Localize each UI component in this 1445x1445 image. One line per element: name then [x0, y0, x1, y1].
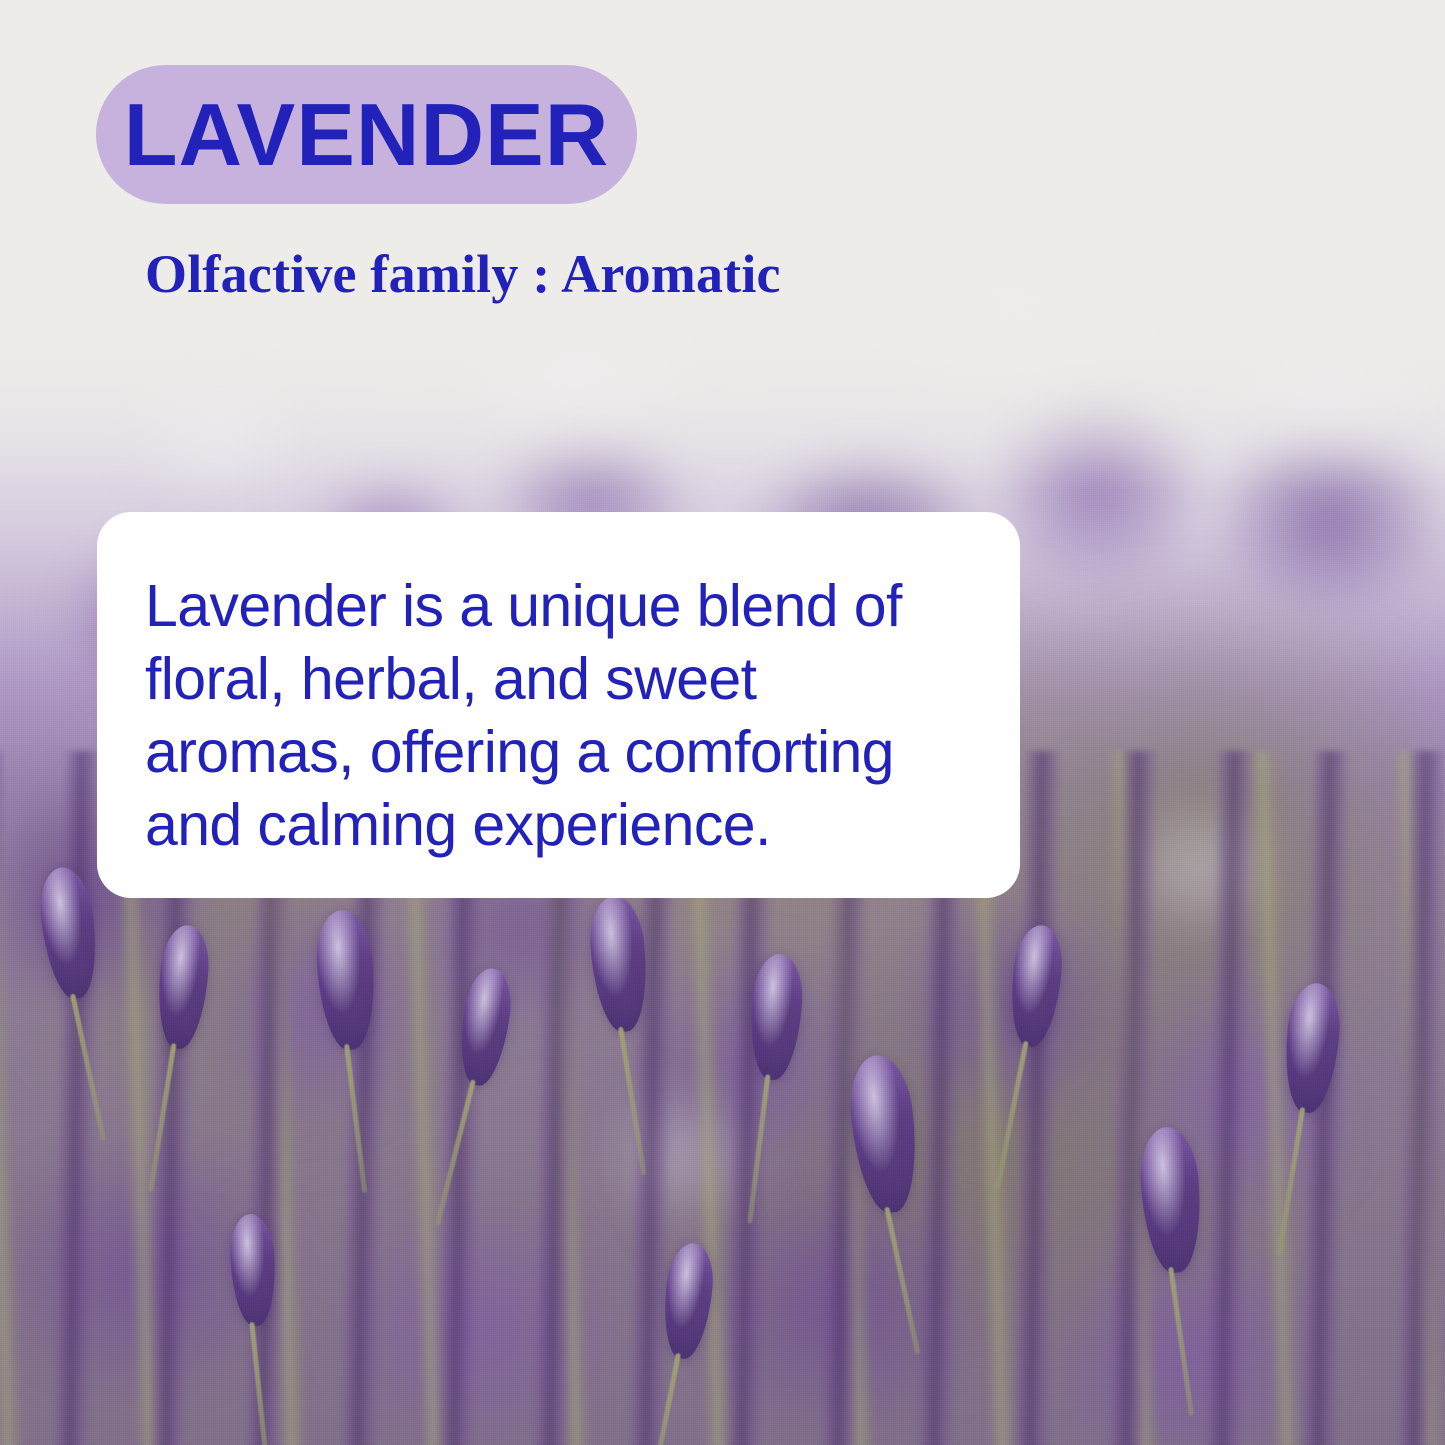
description-text: Lavender is a unique blend of floral, he… — [145, 570, 968, 863]
page-title: LAVENDER — [124, 91, 610, 179]
title-pill: LAVENDER — [96, 65, 637, 204]
lavender-poster: LAVENDER Olfactive family : Aromatic Lav… — [0, 0, 1445, 1445]
description-card: Lavender is a unique blend of floral, he… — [97, 512, 1020, 898]
olfactive-family-subtitle: Olfactive family : Aromatic — [145, 243, 781, 305]
